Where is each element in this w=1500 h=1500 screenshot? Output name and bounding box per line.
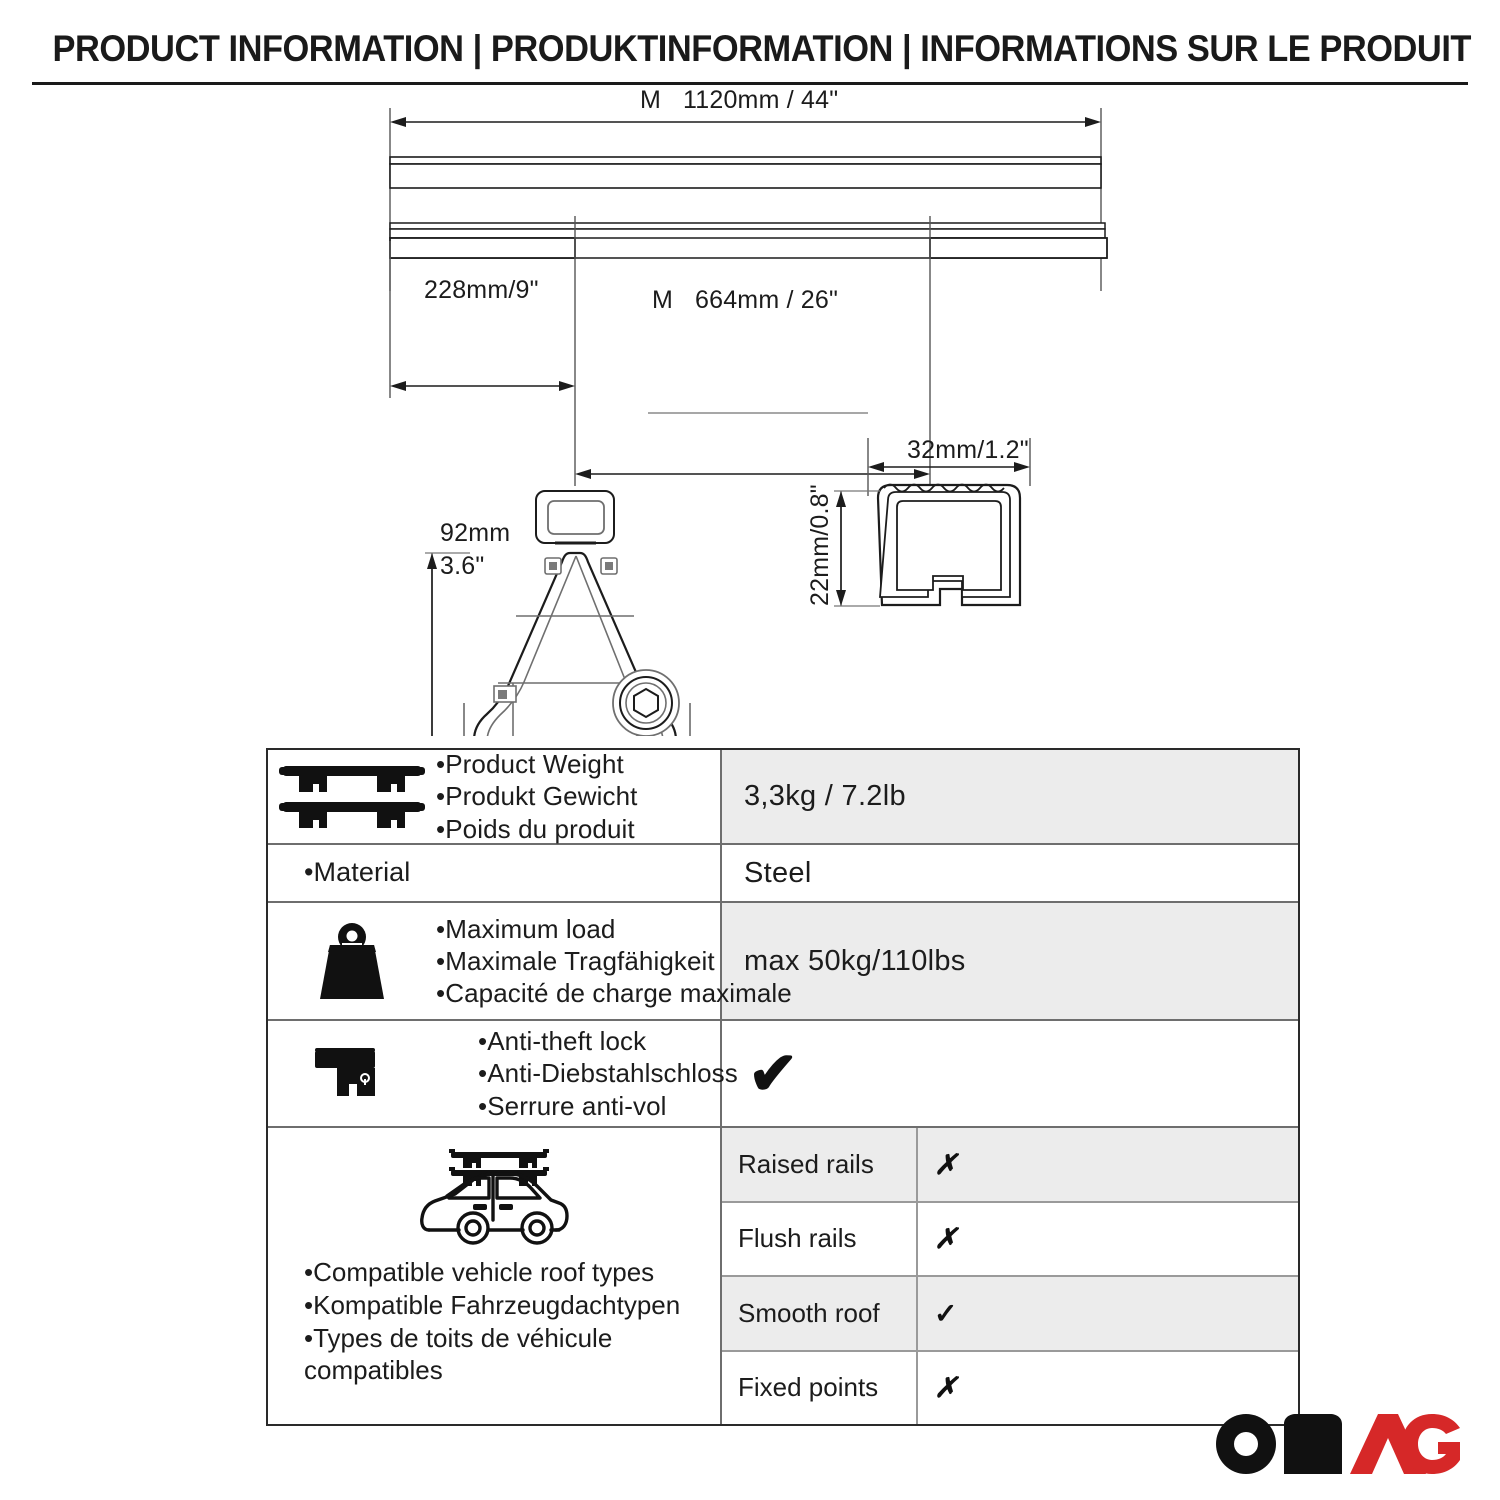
dim-foot-offset: 228mm/9": [424, 276, 539, 304]
weight-icon: [268, 919, 436, 1003]
label-line: •Poids du produit: [436, 813, 716, 845]
dim-foot-height-line1: 92mm: [440, 519, 510, 547]
row-label-cell: •Compatible vehicle roof types •Kompatib…: [268, 1128, 722, 1424]
label-line: •Material: [304, 856, 716, 889]
check-icon: ✔: [744, 1044, 799, 1104]
row-label-cell: •Anti-theft lock •Anti-Diebstahlschloss …: [268, 1021, 722, 1126]
table-row: •Product Weight •Produkt Gewicht •Poids …: [268, 750, 1298, 845]
roof-option-name: Flush rails: [722, 1203, 918, 1276]
label-line: •Types de toits de véhicule: [304, 1322, 720, 1355]
crossbars-icon: [268, 760, 436, 834]
table-row: •Material Steel: [268, 845, 1298, 903]
row-label-cell: •Product Weight •Produkt Gewicht •Poids …: [268, 750, 722, 843]
dim-foot-spacing-prefix: M: [652, 286, 673, 314]
lock-icon: [268, 1043, 436, 1105]
dim-profile-height: 22mm/0.8": [806, 484, 834, 606]
dim-bar-length-prefix: M: [640, 86, 661, 114]
row-label-text: •Product Weight •Produkt Gewicht •Poids …: [436, 748, 720, 845]
row-value-maxload: max 50kg/110lbs: [722, 903, 1298, 1019]
roof-option-row: Raised rails ✗: [722, 1128, 1298, 1203]
label-line: •Maximum load: [436, 913, 792, 945]
omac-logo: [1212, 1404, 1464, 1478]
specification-table: •Product Weight •Produkt Gewicht •Poids …: [266, 748, 1300, 1426]
roof-option-name: Fixed points: [722, 1352, 918, 1425]
roof-option-row: Smooth roof ✓: [722, 1277, 1298, 1352]
label-line: •Serrure anti-vol: [478, 1090, 738, 1122]
label-line: •Kompatible Fahrzeugdachtypen: [304, 1289, 720, 1322]
label-line: •Produkt Gewicht: [436, 780, 716, 812]
dim-profile-width: 32mm/1.2": [907, 436, 1029, 464]
cross-icon: ✗: [918, 1128, 1298, 1201]
dim-foot-spacing-value: 664mm / 26": [695, 286, 838, 314]
roof-option-name: Raised rails: [722, 1128, 918, 1201]
dim-bar-length-value: 1120mm / 44": [683, 86, 838, 114]
label-line: •Capacité de charge maximale: [436, 977, 792, 1009]
header-divider: [32, 82, 1468, 85]
row-value-lock: ✔: [722, 1021, 1298, 1126]
dim-foot-height-line2: 3.6": [440, 552, 484, 580]
roof-compatibility-subtable: Raised rails ✗ Flush rails ✗ Smooth roof…: [722, 1128, 1298, 1424]
row-label-text: •Material: [304, 856, 720, 889]
label-line: •Product Weight: [436, 748, 716, 780]
roof-option-name: Smooth roof: [722, 1277, 918, 1350]
label-line: •Anti-theft lock: [478, 1025, 738, 1057]
row-label-cell: •Maximum load •Maximale Tragfähigkeit •C…: [268, 903, 722, 1019]
table-row: •Anti-theft lock •Anti-Diebstahlschloss …: [268, 1021, 1298, 1128]
page-title: PRODUCT INFORMATION | PRODUKTINFORMATION…: [53, 28, 1448, 70]
label-line: compatibles: [304, 1354, 720, 1387]
row-value-weight: 3,3kg / 7.2lb: [722, 750, 1298, 843]
row-label-cell: •Material: [268, 845, 722, 901]
row-value-material: Steel: [722, 845, 1298, 901]
row-label-text: •Compatible vehicle roof types •Kompatib…: [268, 1250, 720, 1387]
row-label-text: •Maximum load •Maximale Tragfähigkeit •C…: [436, 913, 796, 1010]
check-icon: ✓: [918, 1277, 1298, 1350]
roof-option-row: Flush rails ✗: [722, 1203, 1298, 1278]
car-with-rack-icon: [268, 1138, 720, 1250]
label-line: •Maximale Tragfähigkeit: [436, 945, 792, 977]
row-label-text: •Anti-theft lock •Anti-Diebstahlschloss …: [436, 1025, 742, 1122]
cross-icon: ✗: [918, 1203, 1298, 1276]
label-line: •Compatible vehicle roof types: [304, 1256, 720, 1289]
table-row: •Maximum load •Maximale Tragfähigkeit •C…: [268, 903, 1298, 1021]
label-line: •Anti-Diebstahlschloss: [478, 1057, 738, 1089]
product-information-page: PRODUCT INFORMATION | PRODUKTINFORMATION…: [0, 0, 1500, 1500]
table-row: •Compatible vehicle roof types •Kompatib…: [268, 1128, 1298, 1424]
technical-drawings: M 1120mm / 44" 228mm/9" M 664mm / 26" 92…: [0, 86, 1500, 736]
